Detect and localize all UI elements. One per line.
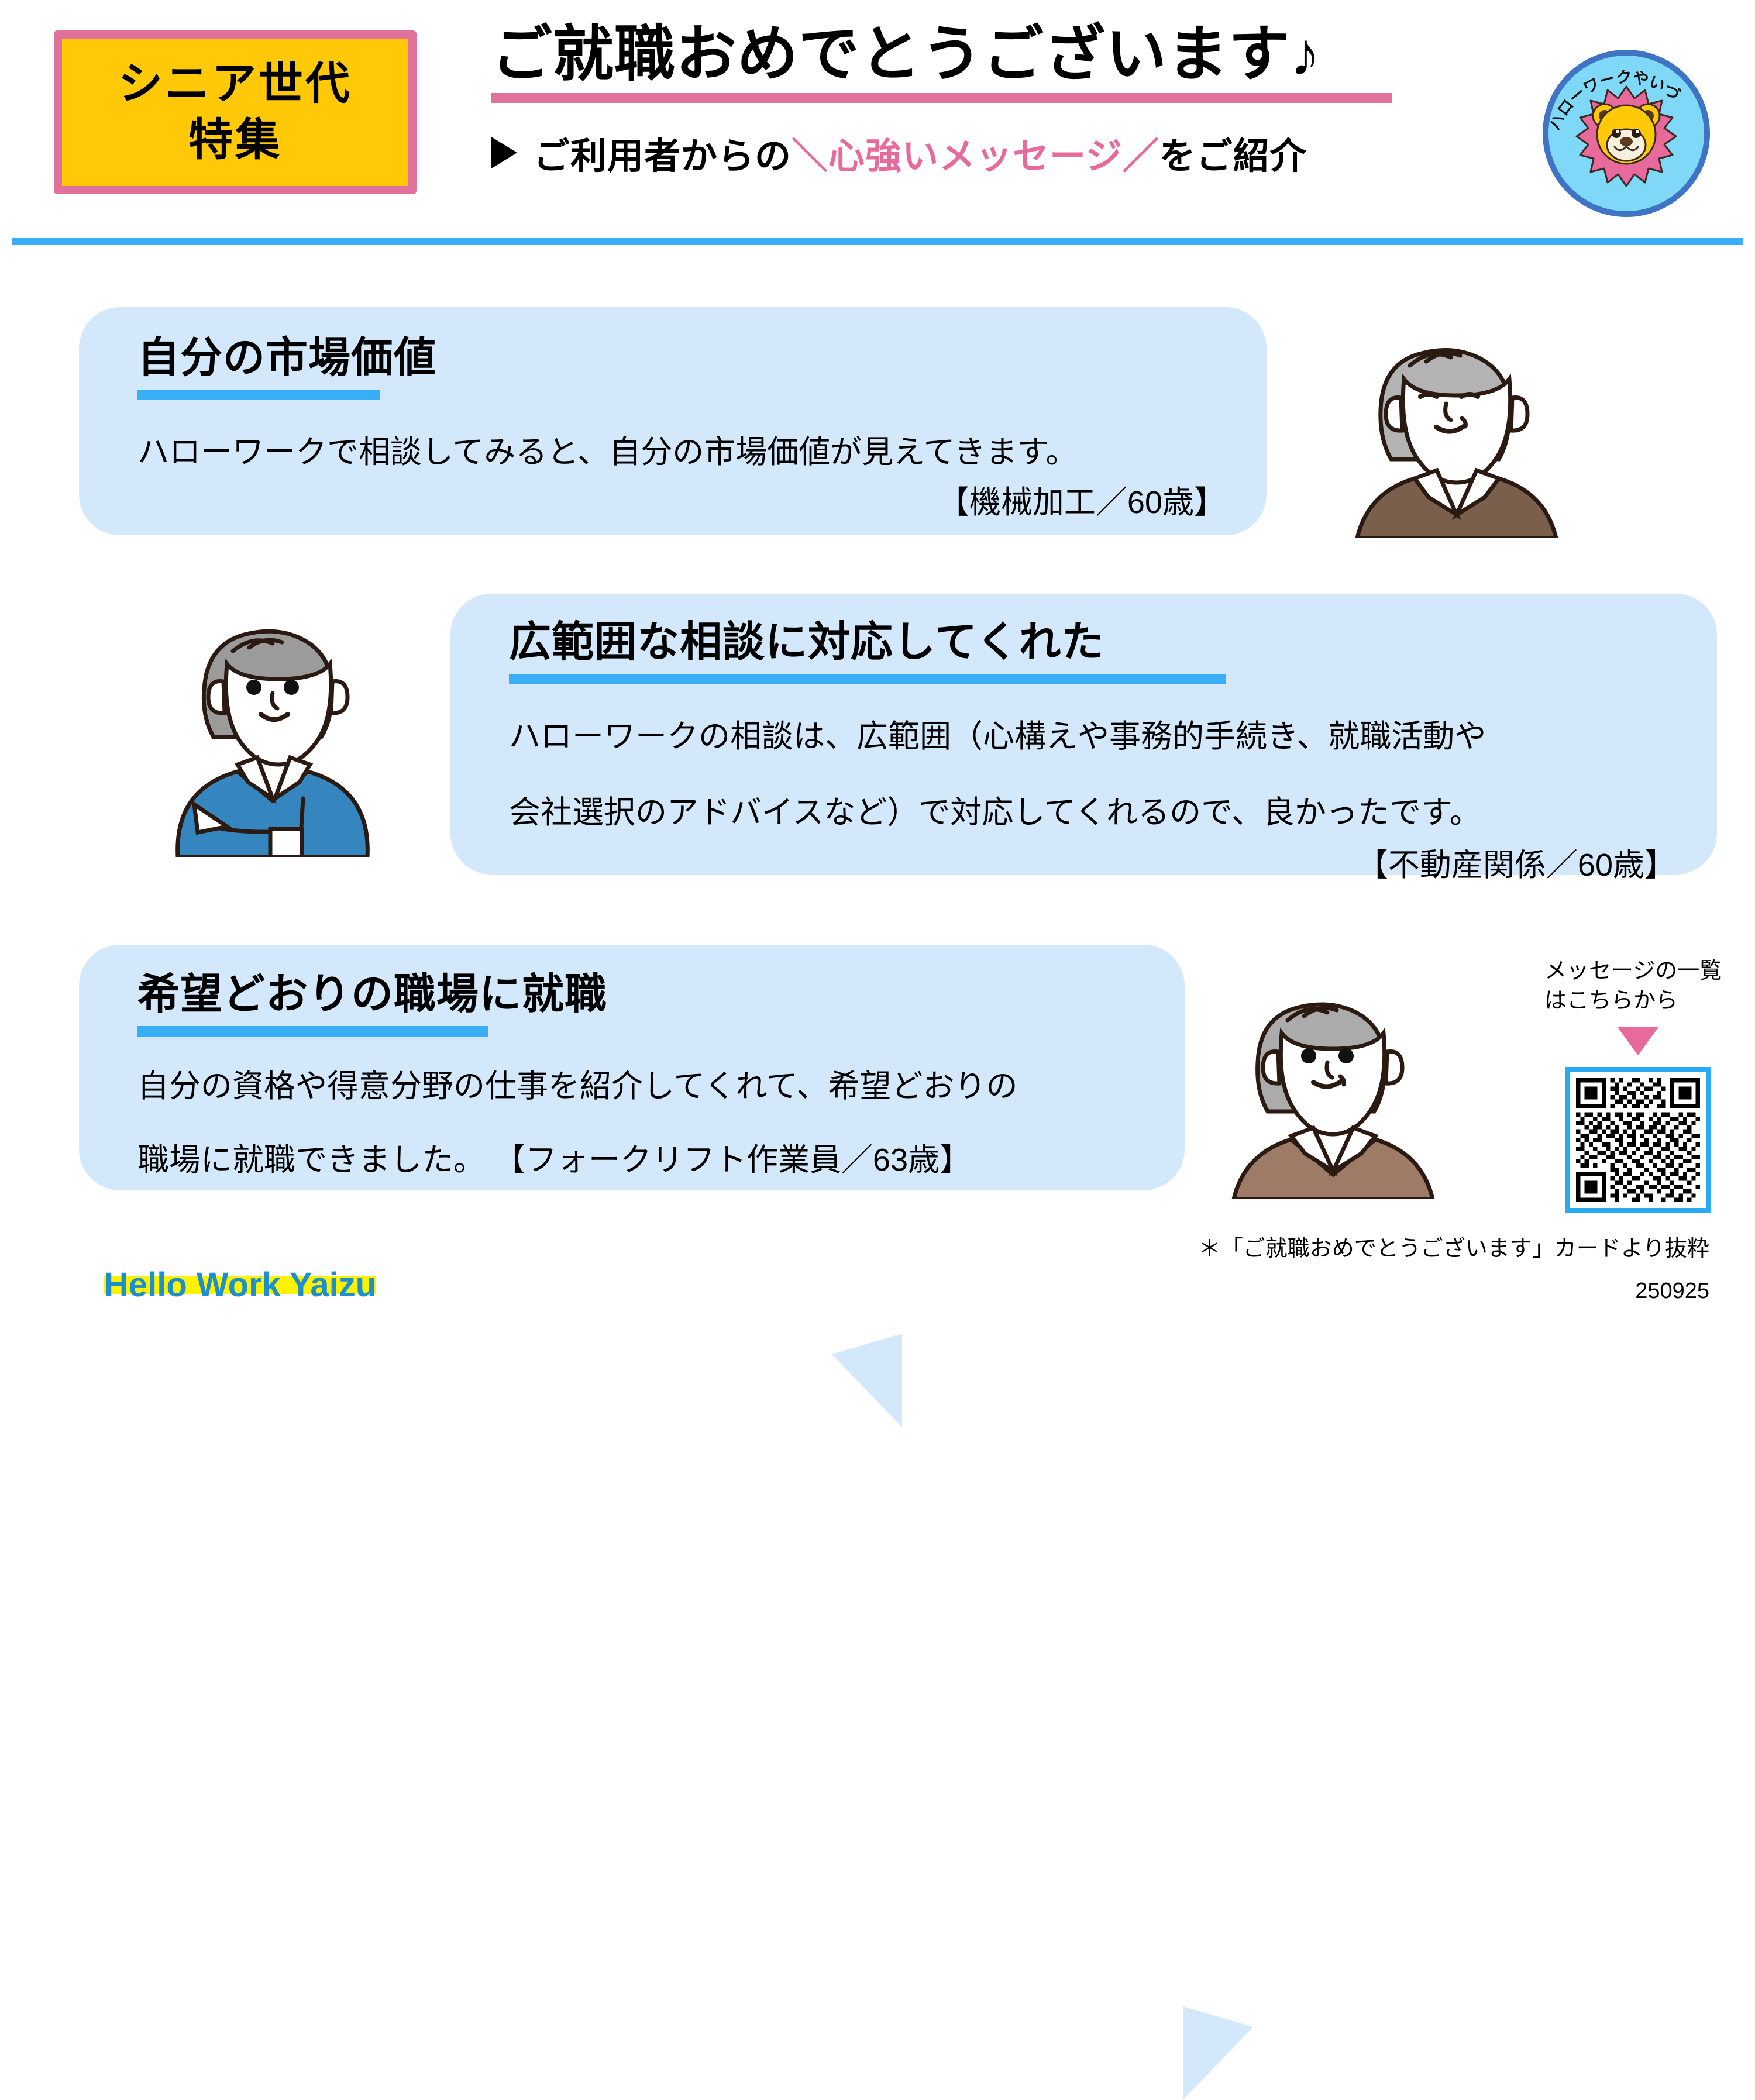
senior-man-tan-sweater-avatar — [1226, 965, 1442, 1199]
subtitle-part-1: ご利用者からの — [534, 126, 792, 179]
senior-man-brown-sweater-avatar — [1345, 310, 1568, 538]
logo-svg: ハローワークやいづ — [1536, 41, 1717, 222]
qr-caption-line-2: はこちらから — [1544, 986, 1732, 1016]
bubble-2-content: 広範囲な相談に対応してくれた ハローワークの相談は、広範囲（心構えや事務的手続き… — [450, 594, 1717, 889]
bubble-3-content: 希望どおりの職場に就職 自分の資格や得意分野の仕事を紹介してくれて、希望どおりの… — [79, 945, 1185, 1184]
bubble-3-heading: 希望どおりの職場に就職 — [137, 972, 1144, 1018]
qr-code-svg — [1576, 1078, 1700, 1202]
poster-header: シニア世代 特集 ご就職おめでとうございます♪ ご利用者からの ＼心強いメッセー… — [0, 0, 1755, 246]
bubble-3-body-line-1: 自分の資格や得意分野の仕事を紹介してくれて、希望どおりの — [137, 1062, 1144, 1110]
testimonial-bubble-2: 広範囲な相談に対応してくれた ハローワークの相談は、広範囲（心構えや事務的手続き… — [450, 594, 1717, 875]
avatar-3-svg — [1226, 965, 1442, 1199]
hellowork-yaizu-logo: ハローワークやいづ — [1536, 41, 1717, 222]
bubble-2-tail — [832, 1334, 902, 1427]
bubble-2-body-line-2: 会社選択のアドバイスなど）で対応してくれるので、良かったです。 — [509, 789, 1676, 836]
bubble-3-heading-underline — [137, 1026, 488, 1037]
footer-brand: Hello Work Yaizu — [104, 1265, 376, 1304]
title-underline — [491, 93, 1392, 103]
bubble-2-heading: 広範囲な相談に対応してくれた — [509, 619, 1676, 666]
footer-brand-text: Hello Work Yaizu — [104, 1266, 376, 1304]
lion-mascot-icon — [1577, 87, 1676, 186]
senior-man-blue-sweater-avatar — [170, 600, 392, 857]
play-triangle-icon — [491, 137, 517, 168]
qr-code-icon[interactable] — [1565, 1067, 1711, 1213]
bubble-2-attribution: 【不動産関係／60歳】 — [509, 842, 1676, 888]
qr-caption-line-1: メッセージの一覧 — [1544, 956, 1732, 986]
avatar-1-svg — [1345, 310, 1568, 538]
feature-badge-line-2: 特集 — [188, 117, 282, 164]
footer-date-code: 250925 — [1635, 1279, 1709, 1304]
footer-note: ＊「ご就職おめでとうございます」カードより抜粋 — [1199, 1238, 1709, 1260]
feature-badge-line-1: シニア世代 — [118, 61, 352, 108]
bubble-3-body-line-2: 職場に就職できました。 【フォークリフト作業員／63歳】 — [137, 1136, 1144, 1184]
bubble-1-heading: 自分の市場価値 — [137, 335, 1226, 381]
down-triangle-icon — [1618, 1027, 1658, 1055]
testimonial-bubble-3: 希望どおりの職場に就職 自分の資格や得意分野の仕事を紹介してくれて、希望どおりの… — [79, 945, 1185, 1190]
subtitle: ご利用者からの ＼心強いメッセージ／ をご紹介 — [491, 126, 1474, 179]
bubble-1-body: ハローワークで相談してみると、自分の市場価値が見えてきます。 — [137, 428, 1226, 476]
bubble-1-content: 自分の市場価値 ハローワークで相談してみると、自分の市場価値が見えてきます。 【… — [79, 307, 1267, 526]
bubble-2-body-line-1: ハローワークの相談は、広範囲（心構えや事務的手続き、就職活動や — [509, 712, 1676, 760]
qr-code-block[interactable]: メッセージの一覧 はこちらから — [1544, 956, 1732, 1213]
subtitle-highlight: ＼心強いメッセージ／ — [792, 126, 1159, 179]
bubble-2-heading-underline — [509, 674, 1226, 684]
bubble-1-attribution: 【機械加工／60歳】 — [137, 480, 1226, 525]
avatar-2-svg — [170, 600, 392, 857]
feature-badge: シニア世代 特集 — [54, 30, 417, 194]
title-block: ご就職おめでとうございます♪ ご利用者からの ＼心強いメッセージ／ をご紹介 — [491, 18, 1474, 179]
bubble-3-tail — [1183, 2006, 1253, 2100]
testimonial-bubble-1: 自分の市場価値 ハローワークで相談してみると、自分の市場価値が見えてきます。 【… — [79, 307, 1267, 535]
page-title: ご就職おめでとうございます♪ — [491, 18, 1474, 92]
bubble-1-heading-underline — [137, 390, 380, 400]
header-divider — [12, 238, 1743, 245]
subtitle-part-2: をご紹介 — [1159, 126, 1307, 179]
